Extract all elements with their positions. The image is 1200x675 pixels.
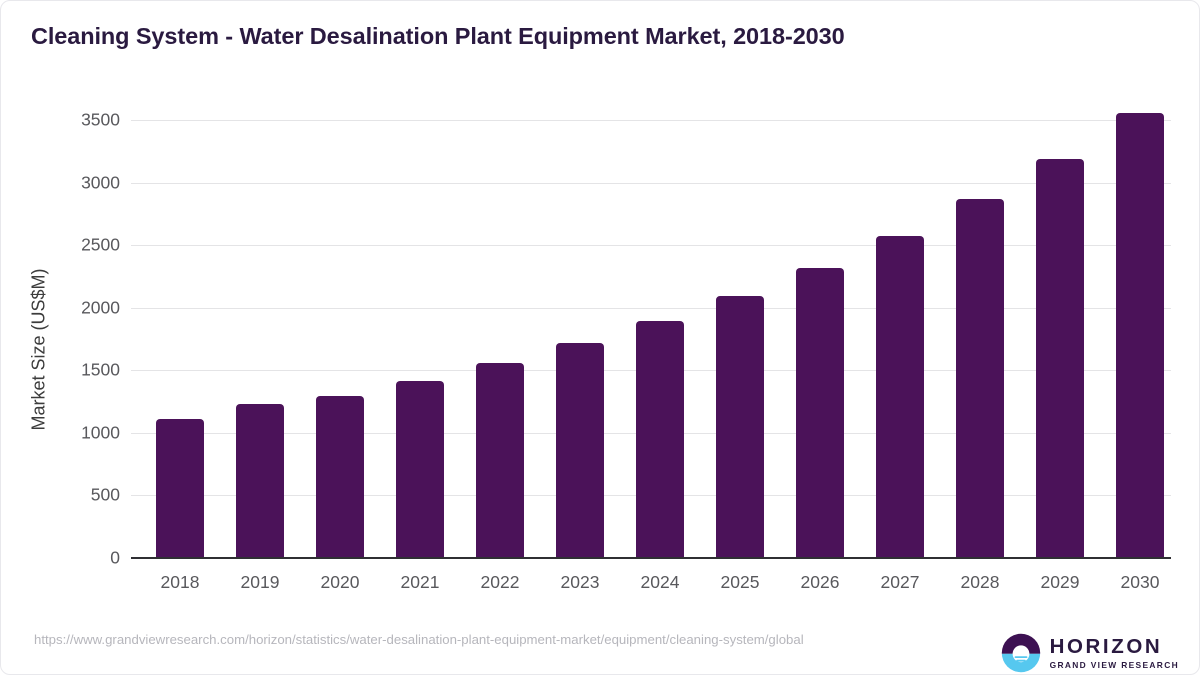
bar-2023[interactable]	[556, 343, 604, 558]
bar-2025[interactable]	[716, 296, 764, 558]
y-axis-tick-label: 2500	[0, 235, 120, 256]
y-axis-tick-label: 1500	[0, 360, 120, 381]
bar-2018[interactable]	[156, 419, 204, 558]
chart-canvas: Market Size (US$M) 350030002500200015001…	[1, 1, 1200, 601]
logo-name: HORIZON	[1050, 637, 1179, 658]
chart-card: Cleaning System - Water Desalination Pla…	[0, 0, 1200, 675]
x-axis-tick-label: 2019	[215, 572, 305, 593]
bar-2022[interactable]	[476, 363, 524, 558]
x-axis-tick-label: 2023	[535, 572, 625, 593]
gridline	[131, 183, 1171, 184]
x-axis-tick-label: 2025	[695, 572, 785, 593]
x-axis-tick-label: 2029	[1015, 572, 1105, 593]
bar-2019[interactable]	[236, 404, 284, 558]
y-axis-tick-label: 1000	[0, 422, 120, 443]
y-axis-tick-label: 2000	[0, 297, 120, 318]
horizon-circle-icon	[1001, 633, 1041, 673]
y-axis-tick-label: 500	[0, 485, 120, 506]
logo-tagline: GRAND VIEW RESEARCH	[1050, 661, 1179, 669]
x-axis-tick-label: 2027	[855, 572, 945, 593]
bar-2021[interactable]	[396, 381, 444, 558]
bar-2028[interactable]	[956, 199, 1004, 558]
gridline	[131, 245, 1171, 246]
bar-2027[interactable]	[876, 236, 924, 558]
bar-2030[interactable]	[1116, 113, 1164, 559]
bar-2024[interactable]	[636, 321, 684, 558]
bar-2026[interactable]	[796, 268, 844, 558]
y-axis-tick-label: 3000	[0, 172, 120, 193]
bar-2029[interactable]	[1036, 159, 1084, 558]
x-axis-tick-label: 2018	[135, 572, 225, 593]
source-url[interactable]: https://www.grandviewresearch.com/horizo…	[34, 631, 949, 648]
gridline	[131, 120, 1171, 121]
plot-area: 3500300025002000150010005000 20182019202…	[131, 120, 1171, 558]
y-axis-tick-label: 3500	[0, 110, 120, 131]
x-axis-line	[131, 557, 1171, 559]
x-axis-tick-label: 2028	[935, 572, 1025, 593]
horizon-logo: HORIZON GRAND VIEW RESEARCH	[1001, 633, 1179, 673]
gridline	[131, 308, 1171, 309]
y-axis-tick-label: 0	[0, 548, 120, 569]
chart-footer: https://www.grandviewresearch.com/horizo…	[1, 623, 1200, 675]
x-axis-tick-label: 2030	[1095, 572, 1185, 593]
logo-wordmark: HORIZON GRAND VIEW RESEARCH	[1050, 637, 1179, 669]
bar-2020[interactable]	[316, 396, 364, 558]
x-axis-tick-label: 2026	[775, 572, 865, 593]
x-axis-tick-label: 2020	[295, 572, 385, 593]
x-axis-tick-label: 2024	[615, 572, 705, 593]
x-axis-tick-label: 2022	[455, 572, 545, 593]
x-axis-tick-label: 2021	[375, 572, 465, 593]
